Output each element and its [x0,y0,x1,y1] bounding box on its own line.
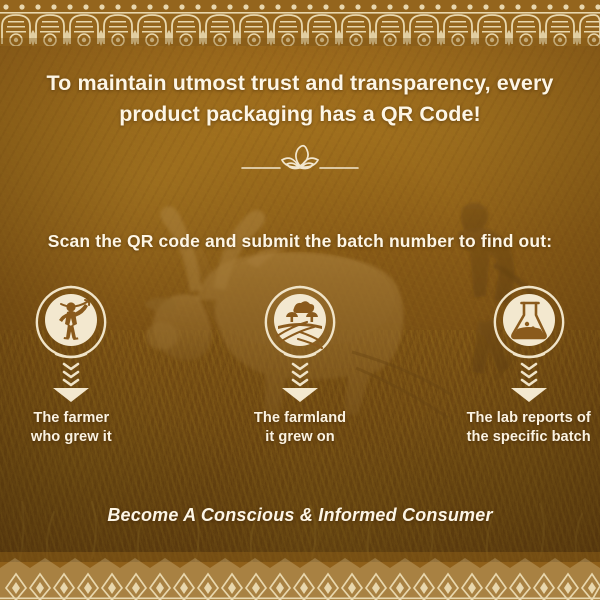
step-caption: The farmer who grew it [31,409,112,448]
chevron-down-arrow [499,361,559,403]
footer-tagline: Become A Conscious & Informed Consumer [20,505,580,526]
subheading: Scan the QR code and submit the batch nu… [20,231,580,252]
leaf-sprout-ornament-icon [240,140,360,176]
step-farmer: The farmer who grew it [0,284,143,448]
farmer-icon [33,284,109,360]
promo-poster: To maintain utmost trust and transparenc… [0,0,600,600]
top-decorative-border [0,0,600,46]
lab-flask-icon [491,284,567,360]
farmland-icon [262,284,338,360]
chevron-down-arrow [270,361,330,403]
chevron-down-arrow [41,361,101,403]
poster-content: To maintain utmost trust and transparenc… [0,0,600,600]
bottom-decorative-border [0,552,600,600]
step-caption: The farmland it grew on [254,409,346,448]
steps-row: The farmer who grew it [0,284,600,448]
step-farmland: The farmland it grew on [229,284,372,448]
step-lab-reports: The lab reports of the specific batch [457,284,600,448]
step-caption: The lab reports of the specific batch [467,409,591,448]
headline: To maintain utmost trust and transparenc… [30,68,570,129]
